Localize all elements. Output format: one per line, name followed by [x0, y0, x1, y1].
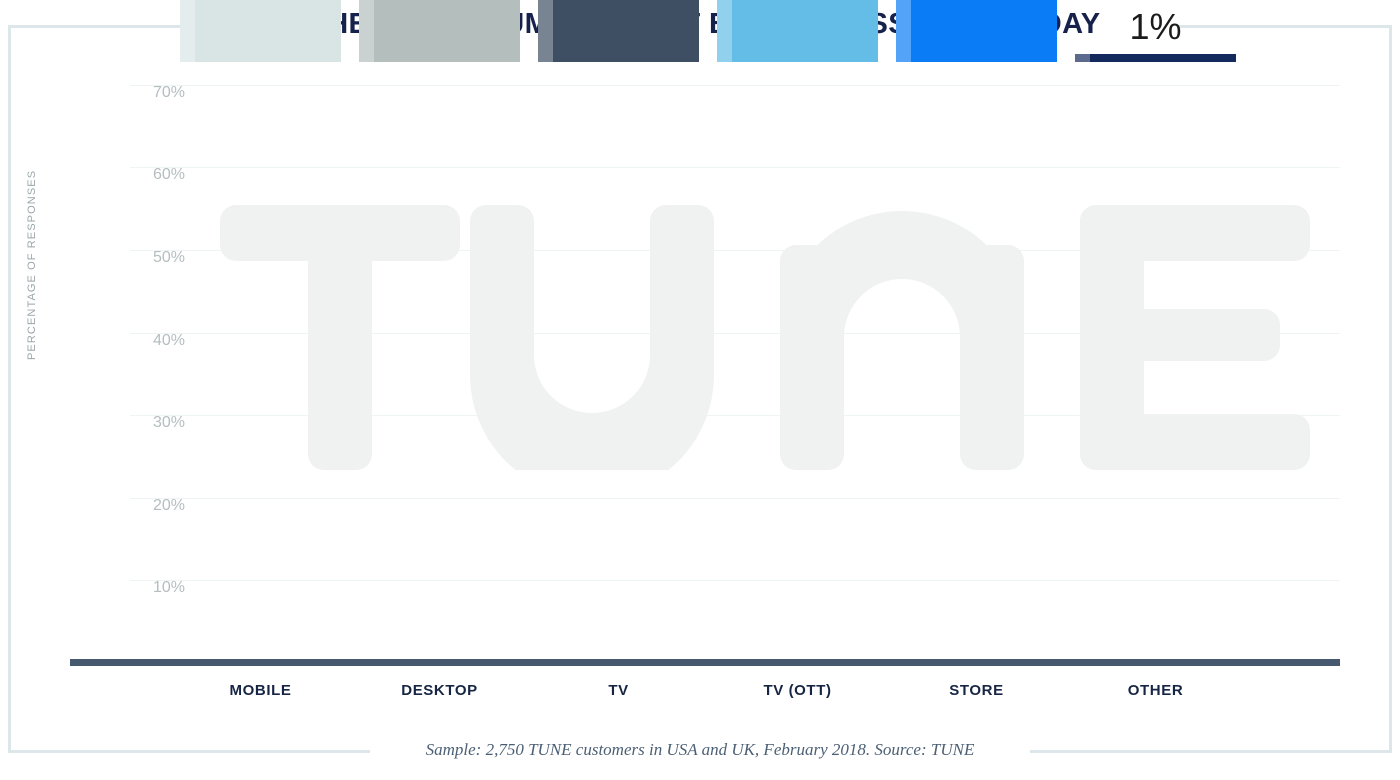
- x-category-label: OTHER: [1075, 682, 1236, 699]
- x-category-label: STORE: [896, 682, 1057, 699]
- plot-area: PERCENTAGE OF RESPONSES 70%60%50%40%30%2…: [70, 60, 1340, 665]
- bar[interactable]: 45%: [538, 0, 699, 62]
- bar-highlight: [359, 0, 374, 62]
- x-category-label: MOBILE: [180, 682, 341, 699]
- bar-highlight: [717, 0, 732, 62]
- bar[interactable]: 41%: [717, 0, 878, 62]
- x-category-label: TV (OTT): [717, 682, 878, 699]
- bar-fill: [717, 0, 878, 62]
- y-axis-label: PERCENTAGE OF RESPONSES: [26, 170, 38, 360]
- bar[interactable]: 46%: [359, 0, 520, 62]
- x-category-label: TV: [538, 682, 699, 699]
- bar[interactable]: 67%: [180, 0, 341, 62]
- x-category-label: DESKTOP: [359, 682, 520, 699]
- source-note: Sample: 2,750 TUNE customers in USA and …: [0, 740, 1400, 760]
- bar[interactable]: 30%: [896, 0, 1057, 62]
- bar-fill: [538, 0, 699, 62]
- bar-highlight: [180, 0, 195, 62]
- bar-highlight: [538, 0, 553, 62]
- bar[interactable]: 1%: [1075, 54, 1236, 62]
- x-axis-categories: MOBILEDESKTOPTVTV (OTT)STOREOTHER: [70, 682, 1340, 712]
- bar-highlight: [896, 0, 911, 62]
- bar-value-label: 1%: [1129, 6, 1181, 48]
- bar-fill: [180, 0, 341, 62]
- bar-fill: [896, 0, 1057, 62]
- bar-highlight: [1075, 54, 1090, 62]
- bar-series: 67%46%45%41%30%1%: [70, 60, 1340, 665]
- x-axis-baseline: [70, 659, 1340, 666]
- bar-fill: [359, 0, 520, 62]
- chart-page: WHERE CONSUMERS MEET BRAND MESSAGES TODA…: [0, 0, 1400, 780]
- bar-fill: [1075, 54, 1236, 62]
